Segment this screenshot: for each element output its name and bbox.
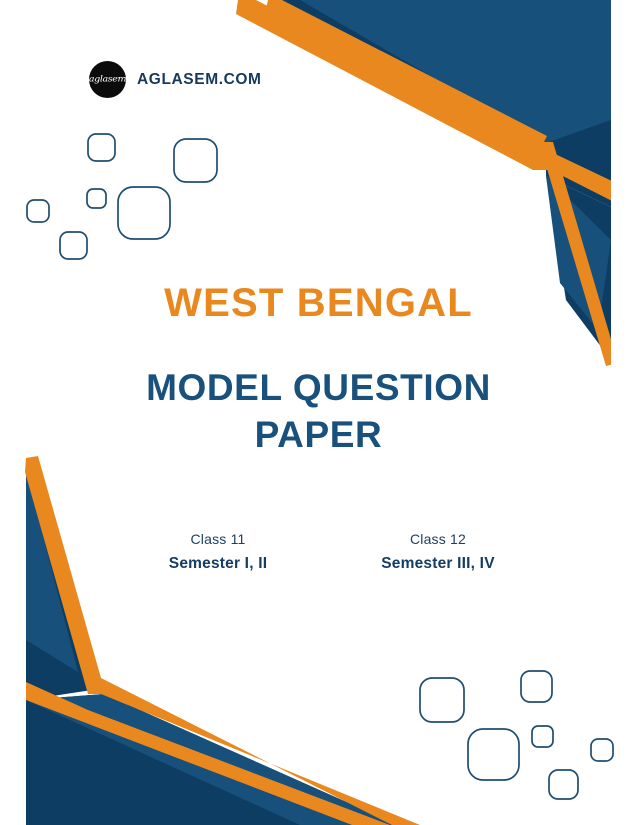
decor-square [591, 739, 613, 761]
decor-square [60, 232, 87, 259]
aglasem-logo-icon: aglasem [89, 61, 126, 98]
decor-square [420, 678, 464, 722]
decor-square [468, 729, 519, 780]
decor-square [27, 200, 49, 222]
top-right-navy-shape [238, 0, 611, 207]
decor-square [88, 134, 115, 161]
top-right-orange-band-upper [236, 0, 551, 170]
decor-square [118, 187, 170, 239]
aglasem-logo-wordmark: aglasem [89, 75, 126, 84]
page-title-secondary: MODEL QUESTION PAPER [0, 364, 637, 459]
top-right-navy-highlight [300, 0, 611, 143]
title-block: WEST BENGAL MODEL QUESTION PAPER [0, 282, 637, 459]
brand-name: AGLASEM.COM [137, 71, 262, 89]
semester-label: Semester I, II [118, 555, 318, 572]
class-column-12: Class 12 Semester III, IV [338, 532, 538, 572]
bottom-left-orange-stripe-inner [26, 682, 390, 825]
decor-squares-top-left [27, 134, 217, 259]
class-label: Class 11 [118, 532, 318, 547]
top-right-orange-band-lower [551, 152, 614, 202]
decor-square [521, 671, 552, 702]
decor-square [549, 770, 578, 799]
page-title-primary: WEST BENGAL [0, 282, 637, 324]
decor-square [532, 726, 553, 747]
brand-lockup: aglasem AGLASEM.COM [89, 61, 262, 98]
class-column-11: Class 11 Semester I, II [118, 532, 318, 572]
bottom-left-navy-shape [26, 694, 398, 825]
top-right-orange-stripe-inner [266, 0, 547, 148]
bottom-left-orange-band-upper [25, 456, 101, 694]
decor-square [87, 189, 106, 208]
cover-page: aglasem AGLASEM.COM WEST BENGAL MODEL QU… [0, 0, 637, 825]
bottom-left-orange-band-lower [101, 678, 420, 825]
class-label: Class 12 [338, 532, 538, 547]
semester-label: Semester III, IV [338, 555, 538, 572]
bottom-left-navy-spike [26, 470, 92, 700]
bottom-left-navy-spike-highlight [26, 470, 78, 672]
decor-square [174, 139, 217, 182]
bottom-left-navy-highlight [26, 694, 398, 825]
class-semester-row: Class 11 Semester I, II Class 12 Semeste… [118, 532, 538, 572]
decor-squares-bottom-right [420, 671, 613, 799]
